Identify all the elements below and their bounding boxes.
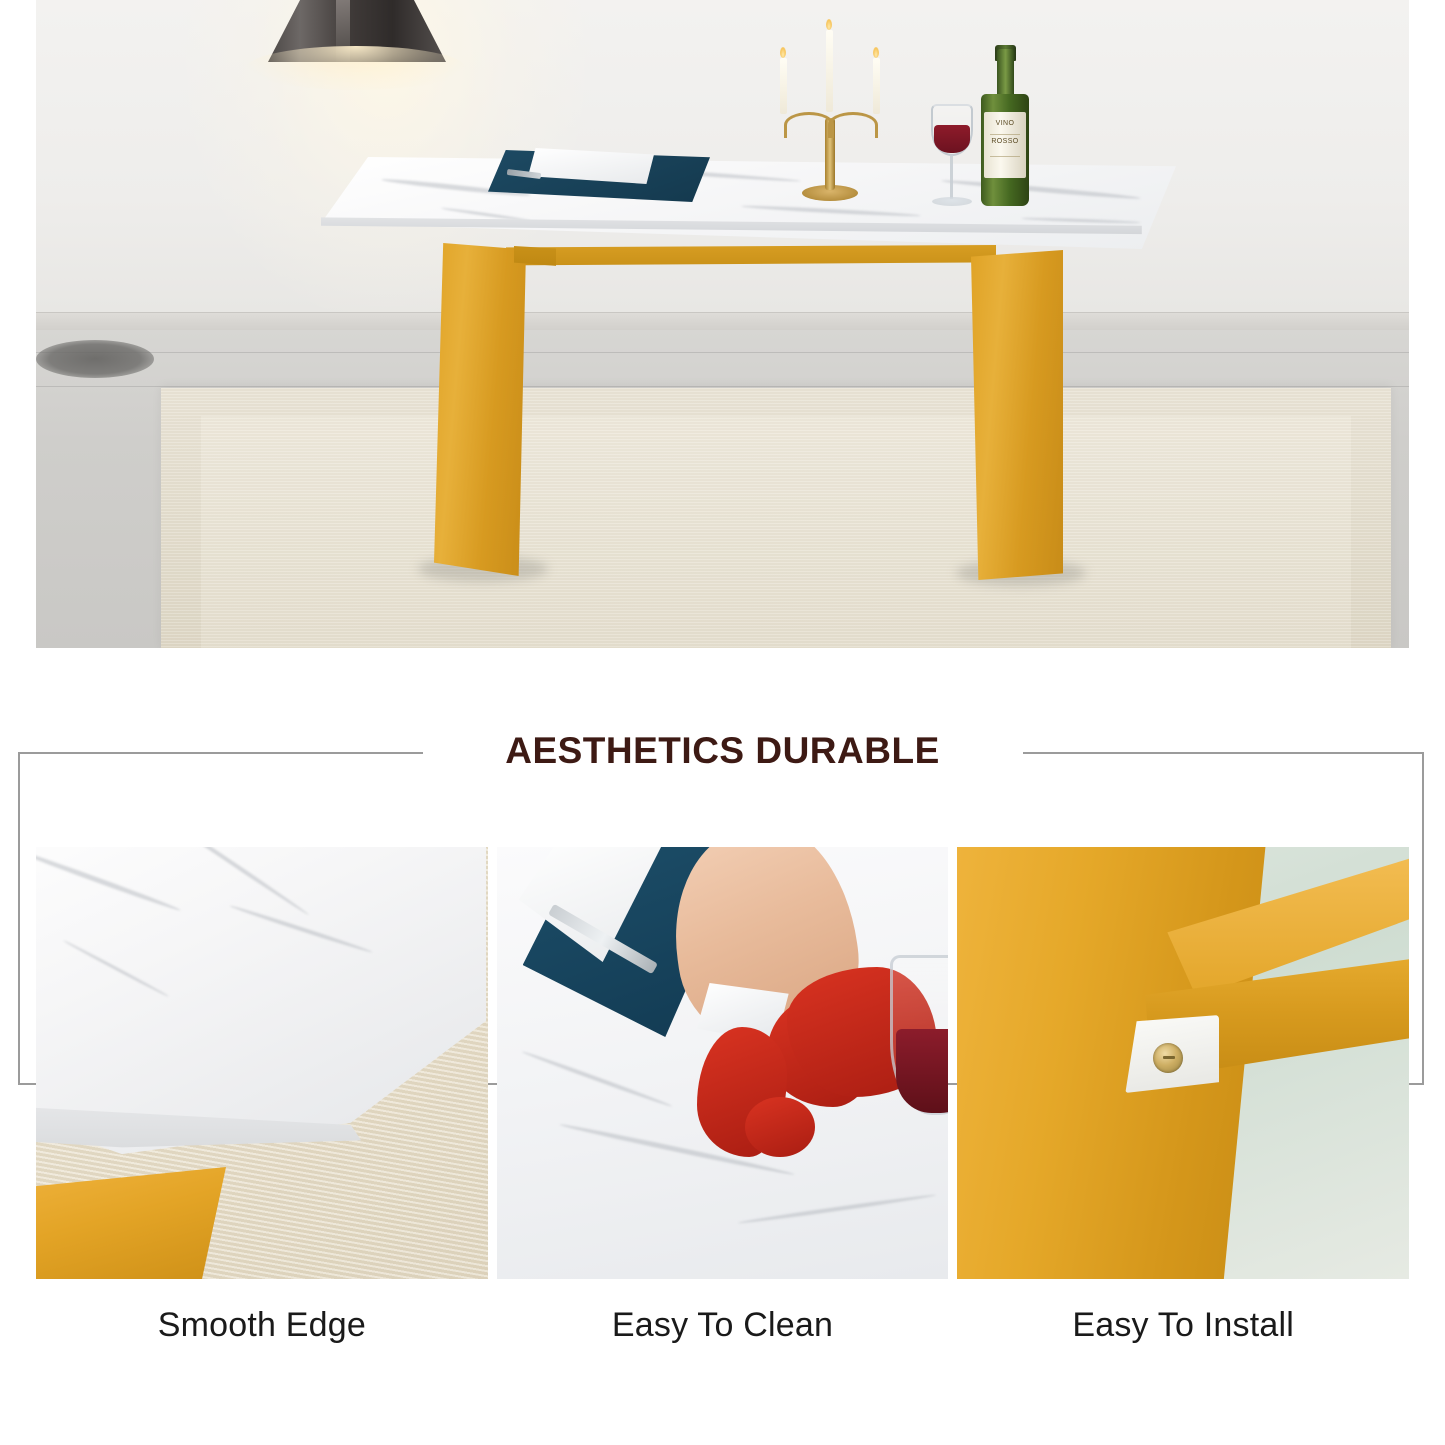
candle-right: [873, 58, 880, 114]
table-leg-right: [971, 250, 1063, 580]
gold-leg-corner: [36, 1167, 226, 1279]
wine-glass-liquid: [896, 1029, 948, 1113]
candelabra-arm-right: [828, 112, 878, 138]
floor-disc: [36, 340, 154, 378]
candelabra-arm-left: [784, 112, 834, 138]
table-leg-left: [434, 243, 526, 576]
wine-glass-stem: [950, 155, 953, 199]
area-rug: [161, 388, 1391, 648]
wine-bottle-label: VINO ROSSO: [984, 112, 1026, 178]
caption-easy-to-install: Easy To Install: [957, 1306, 1409, 1345]
feature-panels: [36, 847, 1409, 1279]
feature-captions: Smooth Edge Easy To Clean Easy To Instal…: [36, 1306, 1409, 1345]
section-title: AESTHETICS DURABLE: [0, 730, 1445, 772]
wine-bottle-neck: [997, 49, 1014, 99]
product-feature-page: VINO ROSSO AESTHETICS DURABLE: [0, 0, 1445, 1445]
candle-flame-right: [873, 47, 879, 58]
wine-bottle-label-line2: ROSSO: [984, 138, 1026, 145]
red-spill-4: [745, 1097, 815, 1157]
candle-left: [780, 58, 787, 114]
wine-glass-foot: [932, 197, 972, 206]
candle-center: [826, 30, 833, 112]
wine-glass-liquid: [934, 125, 970, 153]
feature-image-smooth-edge: [36, 847, 488, 1279]
feature-image-easy-to-install: [957, 847, 1409, 1279]
candle-flame-center: [826, 19, 832, 30]
lamp-glow: [246, 46, 466, 90]
feature-image-easy-to-clean: [497, 847, 949, 1279]
screw-slot: [1163, 1056, 1175, 1059]
caption-smooth-edge: Smooth Edge: [36, 1306, 488, 1345]
hero-room-photo: VINO ROSSO: [36, 0, 1409, 648]
candle-flame-left: [780, 47, 786, 58]
wine-bottle-label-line1: VINO: [984, 120, 1026, 127]
caption-easy-to-clean: Easy To Clean: [497, 1306, 949, 1345]
